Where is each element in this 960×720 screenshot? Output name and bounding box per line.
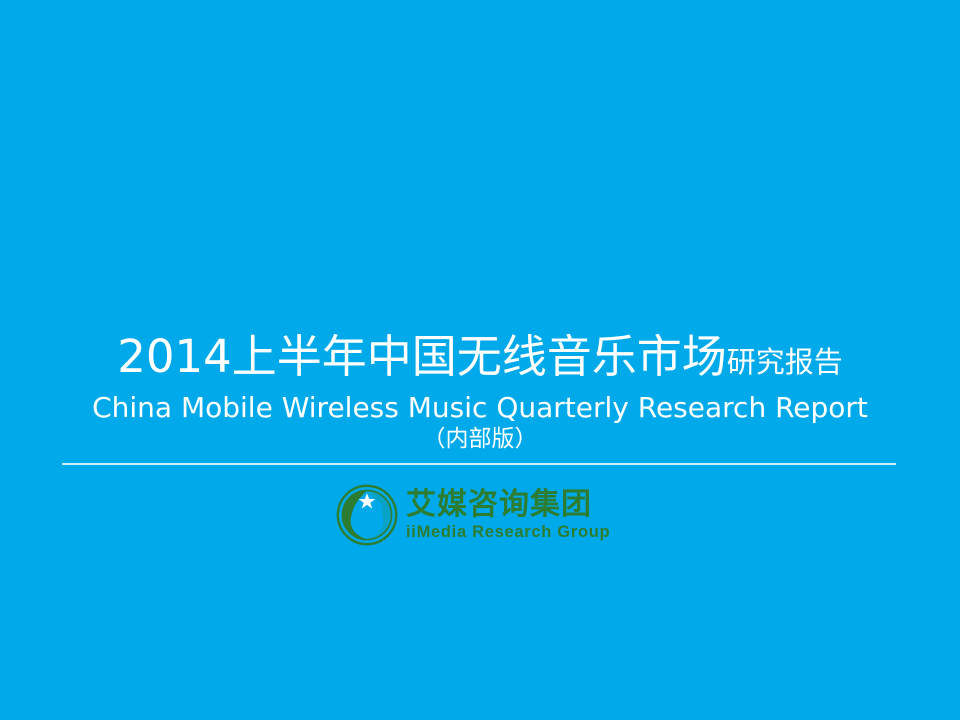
logo-name-chinese: 艾媒咨询集团 <box>406 489 610 521</box>
title-block: 2014上半年中国无线音乐市场研究报告 China Mobile Wireles… <box>0 330 960 453</box>
subtitle-chinese-edition: （内部版） <box>0 425 960 453</box>
subtitle-english: China Mobile Wireless Music Quarterly Re… <box>0 391 960 425</box>
logo-wordmark: 艾媒咨询集团 iiMedia Research Group <box>406 489 610 542</box>
iimedia-circle-emblem-icon <box>336 484 398 546</box>
iimedia-logo: 艾媒咨询集团 iiMedia Research Group <box>336 484 624 546</box>
page-title-primary: 2014上半年中国无线音乐市场 <box>117 330 727 383</box>
report-cover-slide: 2014上半年中国无线音乐市场研究报告 China Mobile Wireles… <box>0 0 960 720</box>
page-title-suffix: 研究报告 <box>727 345 843 379</box>
horizontal-divider <box>62 463 896 465</box>
logo-name-english: iiMedia Research Group <box>406 522 610 542</box>
page-title: 2014上半年中国无线音乐市场研究报告 <box>0 330 960 389</box>
